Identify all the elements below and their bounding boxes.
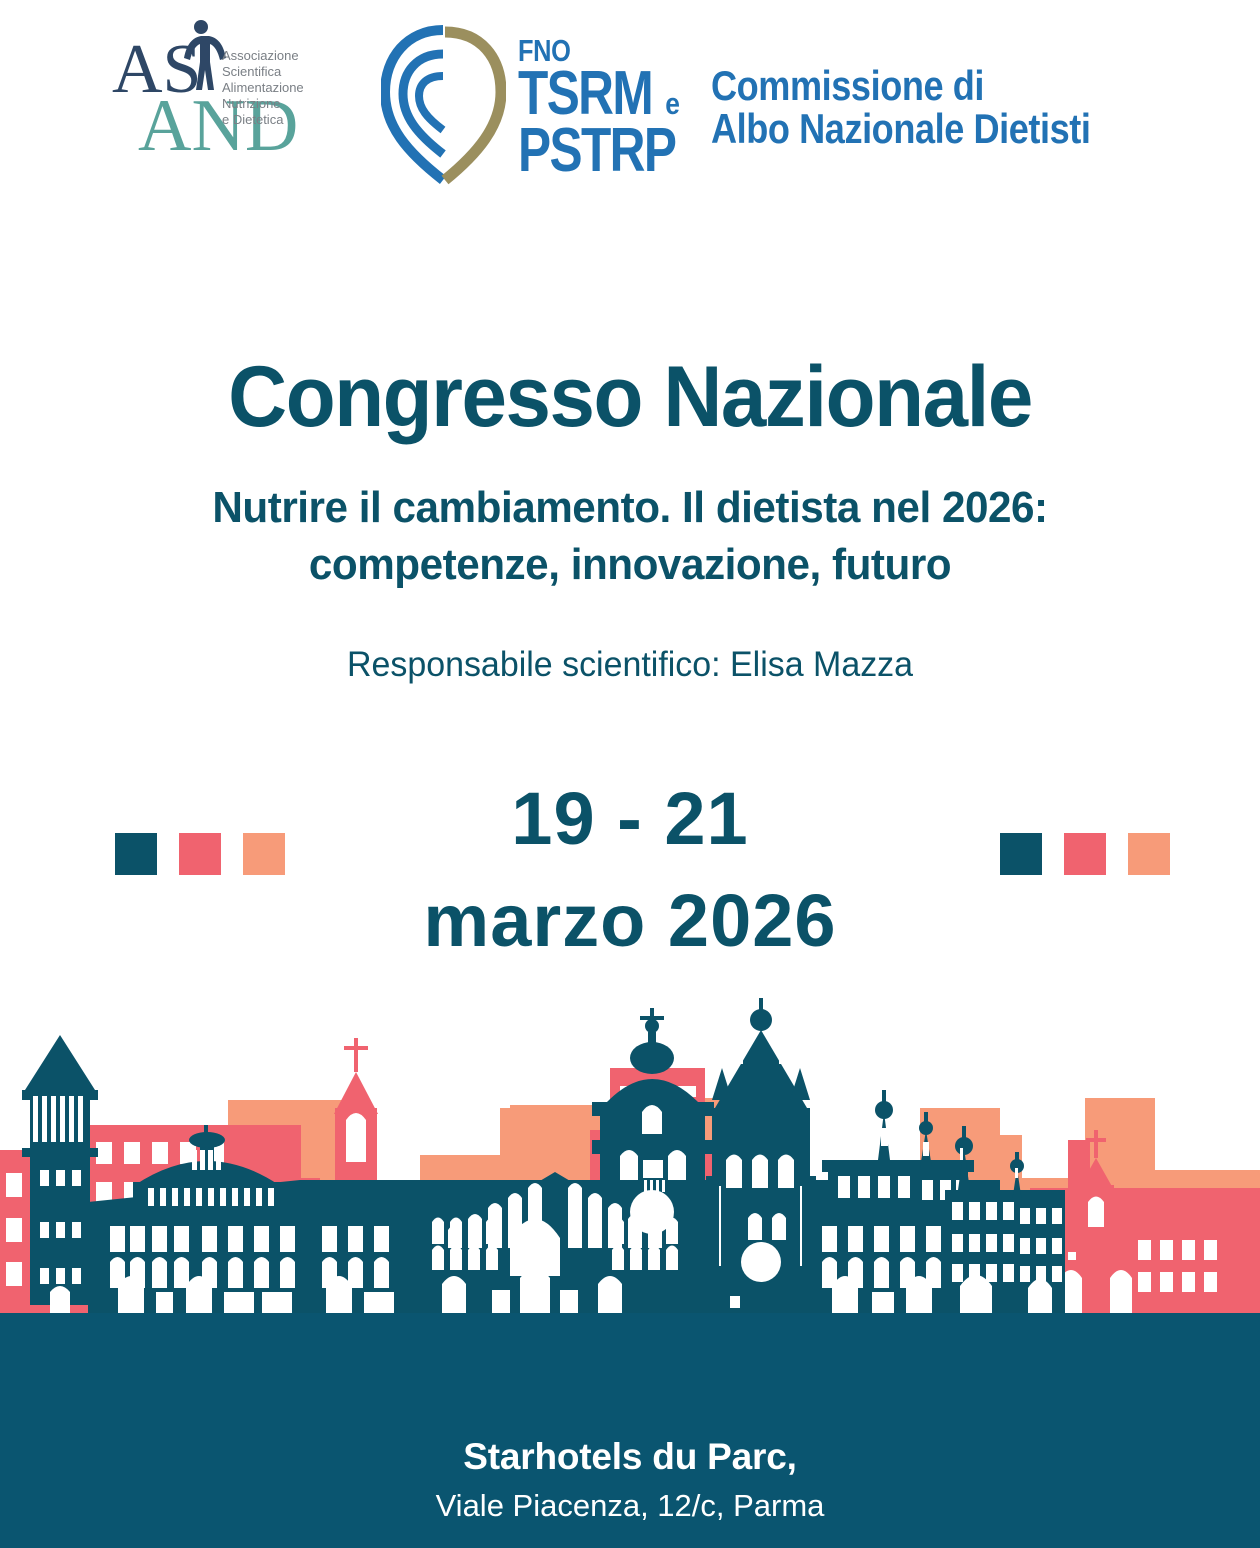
decorative-square bbox=[115, 833, 157, 875]
conference-poster: AS AND Associazione Scientifica Alimenta… bbox=[0, 0, 1260, 1548]
commission-line-2: Albo Nazionale Dietisti bbox=[711, 108, 1090, 151]
footer-band: Starhotels du Parc, Viale Piacenza, 12/c… bbox=[0, 1313, 1260, 1548]
scientific-director: Responsabile scientifico: Elisa Mazza bbox=[19, 645, 1241, 685]
skyline-svg bbox=[0, 990, 1260, 1320]
city-skyline-illustration bbox=[0, 990, 1260, 1320]
asand-logo-mark: AS AND Associazione Scientifica Alimenta… bbox=[108, 14, 323, 194]
pstrp-acronym: PSTRP bbox=[518, 122, 675, 179]
subtitle-line-1: Nutrire il cambiamento. Il dietista nel … bbox=[25, 480, 1235, 536]
decorative-square bbox=[1128, 833, 1170, 875]
title-block: Congresso Nazionale Nutrire il cambiamen… bbox=[0, 352, 1260, 685]
fno-logo-text: FNO TSRM e PSTRP Commissione di Albo Naz… bbox=[518, 29, 1152, 180]
fno-heart-droplet-icon bbox=[381, 22, 506, 187]
decorative-square bbox=[1000, 833, 1042, 875]
decorative-squares-left bbox=[115, 833, 285, 875]
subtitle: Nutrire il cambiamento. Il dietista nel … bbox=[25, 480, 1235, 593]
venue-info: Starhotels du Parc, Viale Piacenza, 12/c… bbox=[0, 1436, 1260, 1524]
venue-name: Starhotels du Parc, bbox=[0, 1436, 1260, 1478]
fno-conjunction: e bbox=[665, 90, 680, 119]
decorative-square bbox=[179, 833, 221, 875]
svg-text:Scientifica: Scientifica bbox=[222, 64, 282, 79]
venue-address: Viale Piacenza, 12/c, Parma bbox=[0, 1488, 1260, 1524]
decorative-square bbox=[243, 833, 285, 875]
decorative-squares-right bbox=[1000, 833, 1170, 875]
subtitle-line-2: competenze, innovazione, futuro bbox=[25, 537, 1235, 593]
commission-line-1: Commissione di bbox=[711, 65, 1090, 108]
svg-text:Alimentazione: Alimentazione bbox=[222, 80, 304, 95]
event-date-month-year: marzo 2026 bbox=[0, 870, 1260, 972]
svg-text:e Dietetica: e Dietetica bbox=[222, 112, 284, 127]
logo-row: AS AND Associazione Scientifica Alimenta… bbox=[0, 14, 1260, 214]
asand-logo: AS AND Associazione Scientifica Alimenta… bbox=[108, 14, 323, 194]
svg-text:Nutrizione: Nutrizione bbox=[222, 96, 281, 111]
fno-tsrm-pstrp-logo: FNO TSRM e PSTRP Commissione di Albo Naz… bbox=[381, 14, 1152, 194]
decorative-square bbox=[1064, 833, 1106, 875]
tsrm-acronym: TSRM bbox=[518, 65, 652, 122]
page-title: Congresso Nazionale bbox=[32, 352, 1229, 442]
svg-text:Associazione: Associazione bbox=[222, 48, 299, 63]
